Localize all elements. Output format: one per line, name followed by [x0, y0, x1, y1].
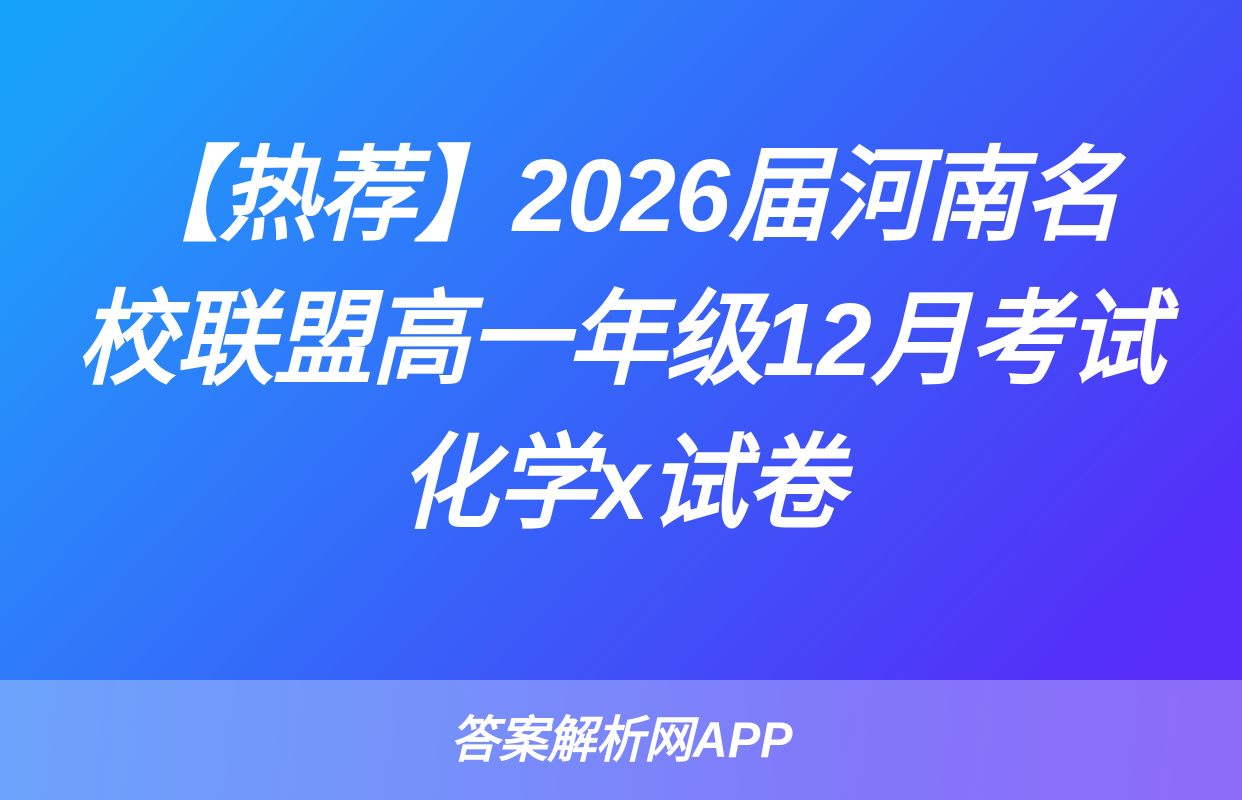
page-title: 【热荐】2026届河南名 校联盟高一年级12月考试 化学x试卷: [0, 124, 1242, 556]
title-line-3: 化学x试卷: [63, 412, 1179, 556]
hero-gradient-panel: 【热荐】2026届河南名 校联盟高一年级12月考试 化学x试卷: [0, 0, 1242, 680]
watermark-band: 答案解析网APP: [0, 680, 1242, 800]
watermark-label: 答案解析网APP: [450, 712, 792, 768]
title-line-2: 校联盟高一年级12月考试: [63, 268, 1179, 412]
title-line-1: 【热荐】2026届河南名: [63, 124, 1179, 268]
exam-cover-card: 【热荐】2026届河南名 校联盟高一年级12月考试 化学x试卷 答案解析网APP: [0, 0, 1242, 800]
